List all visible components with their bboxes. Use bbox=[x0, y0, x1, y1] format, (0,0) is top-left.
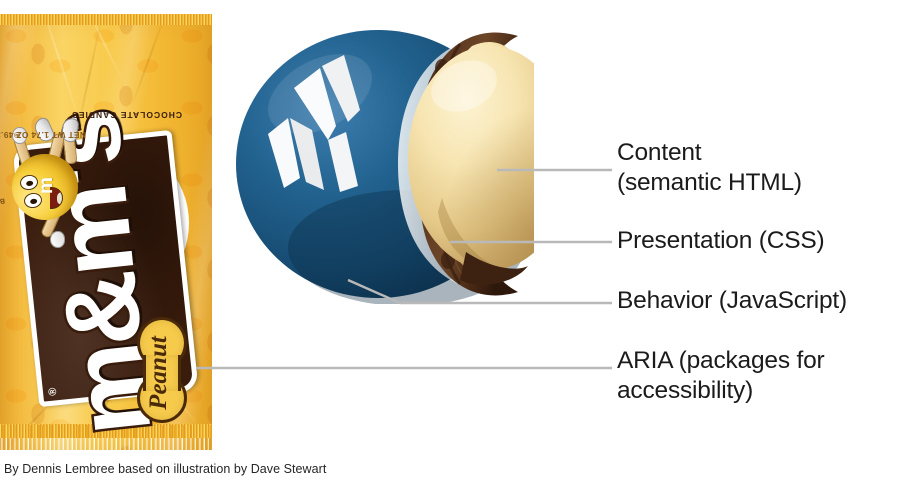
wrapper-package[interactable]: ® m&m's BRAND m ® bbox=[0, 14, 212, 450]
peanut-character: m ® bbox=[6, 124, 84, 236]
character-m-letter: m bbox=[36, 177, 58, 194]
character-glove-left bbox=[50, 231, 65, 248]
label-content: Content(semantic HTML) bbox=[617, 138, 802, 198]
figure-caption: By Dennis Lembree based on illustration … bbox=[4, 462, 326, 476]
label-presentation-line1: Presentation (CSS) bbox=[617, 227, 824, 254]
label-content-line2: (semantic HTML) bbox=[617, 169, 802, 196]
figure-canvas: ® m&m's BRAND m ® bbox=[0, 0, 900, 491]
label-aria: ARIA (packages foraccessibility) bbox=[617, 346, 824, 406]
peanut-variety-text: Peanut bbox=[136, 321, 182, 425]
candy-cutaway-illustration[interactable] bbox=[228, 22, 534, 304]
label-behavior: Behavior (JavaScript) bbox=[617, 286, 847, 316]
label-presentation: Presentation (CSS) bbox=[617, 226, 824, 256]
label-behavior-line1: Behavior (JavaScript) bbox=[617, 287, 847, 314]
peanut-variety-badge: Peanut bbox=[136, 321, 182, 425]
net-weight-text: NET WT 1.74 OZ 49.3g bbox=[0, 130, 86, 140]
wrapper-printed-face: ® m&m's BRAND m ® bbox=[20, 52, 190, 412]
product-descriptor-text: CHOCOLATE CANDIES bbox=[71, 110, 182, 120]
label-aria-line2: accessibility) bbox=[617, 377, 753, 404]
wrapper-serrated-edge bbox=[0, 438, 212, 450]
wrapper-crimp-top bbox=[0, 14, 212, 25]
label-aria-line1: ARIA (packages for bbox=[617, 347, 824, 374]
label-content-line1: Content bbox=[617, 139, 701, 166]
